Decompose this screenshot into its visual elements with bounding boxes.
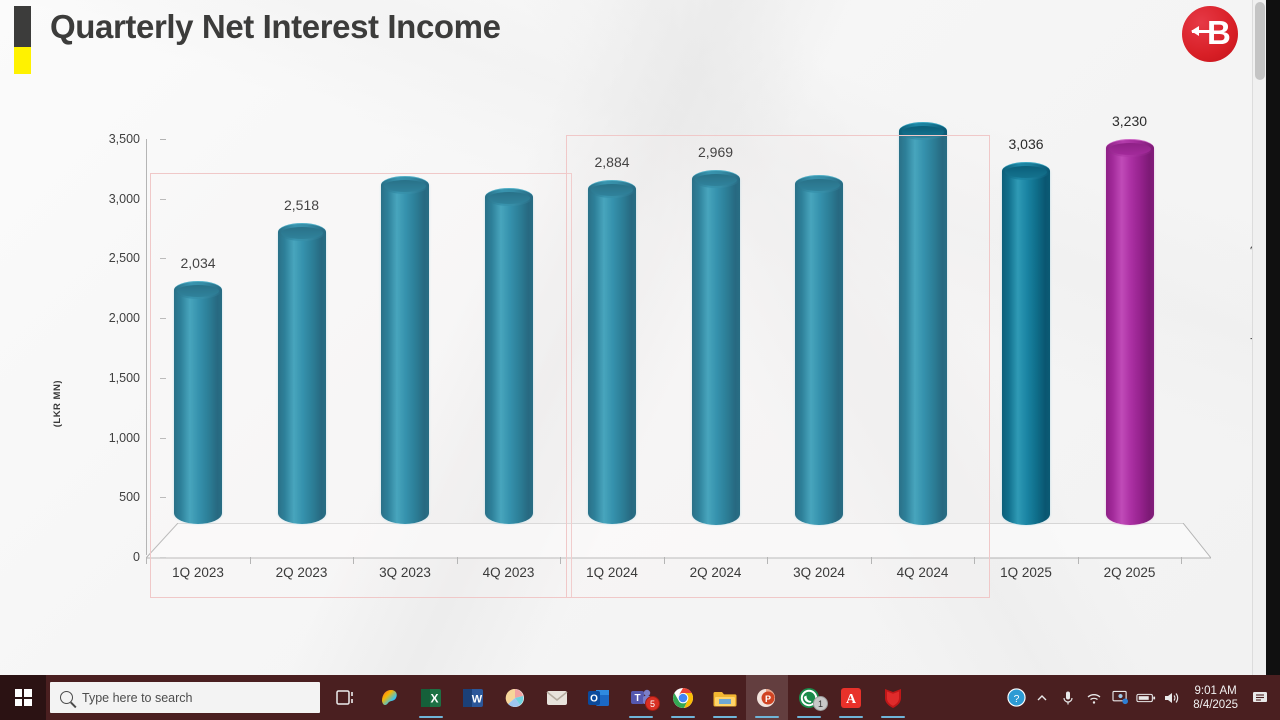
- bar-column[interactable]: 2,884: [582, 180, 642, 524]
- bar-column[interactable]: [375, 176, 435, 525]
- bar-column[interactable]: [789, 175, 849, 525]
- x-axis-label: 2Q 2025: [1070, 565, 1190, 580]
- bar-column[interactable]: 2,518: [272, 223, 332, 524]
- display-icon[interactable]: [1107, 675, 1133, 720]
- taskbar-word-icon[interactable]: W: [452, 675, 494, 720]
- bar-top-cap: [588, 180, 636, 198]
- x-axis-tick-mark: [664, 557, 665, 564]
- bar-value-label: 2,884: [594, 154, 629, 170]
- bar-top-cap: [485, 188, 533, 206]
- x-axis-label: 2Q 2024: [656, 565, 776, 580]
- bar-value-label: 2,034: [180, 255, 215, 271]
- taskbar-mail-icon[interactable]: [536, 675, 578, 720]
- bar-cylinder[interactable]: [795, 175, 843, 525]
- taskbar-running-indicator: [671, 716, 695, 719]
- taskbar-teams-icon[interactable]: T5: [620, 675, 662, 720]
- y-axis-tick-label: 500: [70, 490, 140, 504]
- y-axis-tick-label: 2,500: [70, 251, 140, 265]
- bar-column[interactable]: 3,036: [996, 162, 1056, 525]
- x-axis-label: 3Q 2024: [759, 565, 879, 580]
- bar-cylinder[interactable]: [588, 180, 636, 524]
- svg-text:X: X: [430, 691, 438, 705]
- taskbar-photos-icon[interactable]: [494, 675, 536, 720]
- bar-body: [795, 184, 843, 525]
- x-axis-label: 1Q 2024: [552, 565, 672, 580]
- notifications-icon[interactable]: [1246, 675, 1276, 720]
- page-title: Quarterly Net Interest Income: [50, 8, 501, 46]
- screen: Quarterly Net Interest Income B PABC 2Q …: [0, 0, 1280, 720]
- bar-cylinder[interactable]: [1002, 162, 1050, 525]
- bar-top-cap: [174, 281, 222, 299]
- chevron-up-icon[interactable]: [1029, 675, 1055, 720]
- svg-text:O: O: [590, 693, 598, 704]
- taskbar-clock[interactable]: 9:01 AM 8/4/2025: [1185, 684, 1246, 712]
- bar-cylinder[interactable]: [899, 122, 947, 524]
- windows-logo-icon: [15, 689, 32, 706]
- x-axis-tick-mark: [1181, 557, 1182, 564]
- x-axis-tick-mark: [560, 557, 561, 564]
- bar-chart[interactable]: (LKR MN) 05001,0001,5002,0002,5003,0003,…: [40, 125, 1220, 625]
- battery-icon[interactable]: [1133, 675, 1159, 720]
- help-icon[interactable]: ?: [1003, 675, 1029, 720]
- x-axis-tick-mark: [146, 557, 147, 564]
- x-axis-tick-mark: [767, 557, 768, 564]
- x-axis-label: 4Q 2023: [449, 565, 569, 580]
- y-axis-tick-label: 3,000: [70, 192, 140, 206]
- bar-body: [588, 189, 636, 524]
- y-axis-tick-label: 1,500: [70, 371, 140, 385]
- x-axis-tick-mark: [1078, 557, 1079, 564]
- taskbar-running-indicator: [713, 716, 737, 719]
- plot-area: 2,0342,5182,8842,9693,0363,230: [146, 139, 1211, 557]
- bar-body: [485, 197, 533, 525]
- y-axis-ticks: 05001,0001,5002,0002,5003,0003,500: [60, 125, 140, 555]
- bar-column[interactable]: 2,034: [168, 281, 228, 524]
- logo-letter: B: [1207, 16, 1231, 49]
- taskbar-task-view-icon[interactable]: [326, 675, 368, 720]
- search-placeholder: Type here to search: [82, 691, 192, 705]
- taskbar-excel-icon[interactable]: X: [410, 675, 452, 720]
- x-axis-tick-mark: [457, 557, 458, 564]
- x-axis-label: 4Q 2024: [863, 565, 983, 580]
- clock-time: 9:01 AM: [1193, 684, 1238, 698]
- x-axis-label: 1Q 2025: [966, 565, 1086, 580]
- x-axis-tick-mark: [974, 557, 975, 564]
- taskbar-acrobat-icon[interactable]: A: [830, 675, 872, 720]
- x-axis-tick-mark: [353, 557, 354, 564]
- bar-column[interactable]: 2,969: [686, 170, 746, 525]
- taskbar-running-indicator: [797, 716, 821, 719]
- svg-text:A: A: [846, 692, 857, 707]
- taskbar-copilot-icon[interactable]: [368, 675, 410, 720]
- system-tray[interactable]: ? 9:01 AM 8/4/2025: [1003, 675, 1280, 720]
- bar-value-label: 3,230: [1112, 113, 1147, 129]
- taskbar-badge: 1: [813, 696, 828, 711]
- bar-body: [381, 185, 429, 525]
- svg-text:?: ?: [1013, 694, 1019, 705]
- taskbar-badge: 5: [645, 696, 660, 711]
- bar-body: [692, 179, 740, 525]
- taskbar-running-indicator: [881, 716, 905, 719]
- bar-cylinder[interactable]: [485, 188, 533, 525]
- bar-top-cap: [692, 170, 740, 188]
- taskbar-file-explorer-icon[interactable]: [704, 675, 746, 720]
- start-button[interactable]: [0, 675, 46, 720]
- svg-text:T: T: [634, 693, 640, 704]
- bar-column[interactable]: [479, 188, 539, 525]
- bar-value-label: 2,969: [698, 144, 733, 160]
- y-axis-tick-label: 3,500: [70, 132, 140, 146]
- taskbar-outlook-icon[interactable]: O: [578, 675, 620, 720]
- taskbar-app-buttons: XWOT5P1A: [326, 675, 914, 720]
- taskbar-whatsapp-icon[interactable]: 1: [788, 675, 830, 720]
- bar-cylinder[interactable]: [381, 176, 429, 525]
- windows-taskbar[interactable]: Type here to search XWOT5P1A ?: [0, 675, 1280, 720]
- bar-value-label: 2,518: [284, 197, 319, 213]
- bar-body: [278, 232, 326, 524]
- svg-text:W: W: [472, 693, 483, 705]
- bar-top-cap: [795, 175, 843, 193]
- title-accent-yellow-bar: [14, 47, 31, 74]
- taskbar-running-indicator: [755, 716, 779, 719]
- bar-top-cap: [381, 176, 429, 194]
- x-axis-label: 3Q 2023: [345, 565, 465, 580]
- bar-column[interactable]: [893, 122, 953, 524]
- x-axis-label: 1Q 2023: [138, 565, 258, 580]
- bar-body: [174, 290, 222, 524]
- taskbar-running-indicator: [629, 716, 653, 719]
- y-axis-tick-label: 0: [70, 550, 140, 564]
- search-icon: [60, 691, 73, 704]
- wifi-icon[interactable]: [1081, 675, 1107, 720]
- volume-icon[interactable]: [1159, 675, 1185, 720]
- svg-text:P: P: [765, 694, 771, 704]
- bar-body: [1002, 171, 1050, 525]
- y-axis-tick-label: 1,000: [70, 431, 140, 445]
- taskbar-mcafee-icon[interactable]: [872, 675, 914, 720]
- slide-scrollbar[interactable]: [1252, 0, 1266, 675]
- y-axis-tick-label: 2,000: [70, 311, 140, 325]
- company-logo-icon: B: [1182, 6, 1238, 62]
- bar-cylinder[interactable]: [278, 223, 326, 524]
- bar-cylinder[interactable]: [1106, 139, 1154, 525]
- presentation-slide[interactable]: Quarterly Net Interest Income B PABC 2Q …: [0, 0, 1266, 675]
- taskbar-chrome-icon[interactable]: [662, 675, 704, 720]
- x-axis-tick-mark: [250, 557, 251, 564]
- bar-cylinder[interactable]: [174, 281, 222, 524]
- bar-column[interactable]: 3,230: [1100, 139, 1160, 525]
- x-axis-label: 2Q 2023: [242, 565, 362, 580]
- taskbar-running-indicator: [419, 716, 443, 719]
- bar-top-cap: [1106, 139, 1154, 157]
- taskbar-search-input[interactable]: Type here to search: [50, 682, 320, 713]
- bar-value-label: 3,036: [1008, 136, 1043, 152]
- scrollbar-thumb[interactable]: [1255, 2, 1265, 80]
- taskbar-running-indicator: [839, 716, 863, 719]
- microphone-icon[interactable]: [1055, 675, 1081, 720]
- x-axis-tick-mark: [871, 557, 872, 564]
- bar-body: [899, 131, 947, 524]
- bar-cylinder[interactable]: [692, 170, 740, 525]
- clock-date: 8/4/2025: [1193, 698, 1238, 712]
- bar-body: [1106, 148, 1154, 525]
- taskbar-powerpoint-icon[interactable]: P: [746, 675, 788, 720]
